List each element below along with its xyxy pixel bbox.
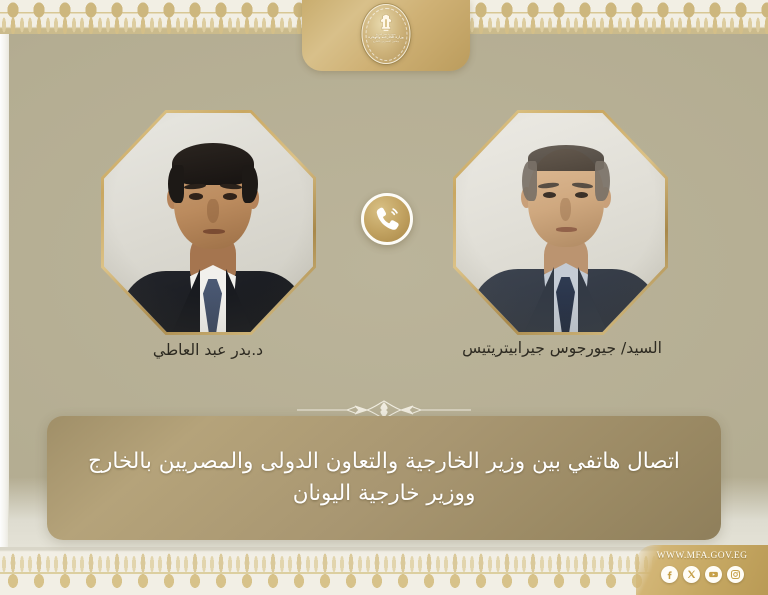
announcement-card: جمهورية مصر العربية وزارة الخارجية والهج…: [0, 0, 768, 595]
emblem-card: جمهورية مصر العربية وزارة الخارجية والهج…: [302, 0, 470, 71]
social-links-row: [661, 566, 744, 583]
portrait-right: [453, 110, 668, 342]
footer-plate: WWW.MFA.GOV.EG: [636, 545, 768, 595]
emblem-line-1: جمهورية مصر العربية: [365, 33, 407, 36]
phone-call-badge: [361, 193, 413, 245]
headline-line-1: اتصال هاتفي بين وزير الخارجية والتعاون ا…: [88, 449, 680, 474]
x-twitter-icon[interactable]: [683, 566, 700, 583]
website-url[interactable]: WWW.MFA.GOV.EG: [657, 551, 748, 561]
phone-call-icon: [372, 204, 402, 234]
instagram-icon[interactable]: [727, 566, 744, 583]
portrait-left: [101, 110, 316, 342]
headline-text: اتصال هاتفي بين وزير الخارجية والتعاون ا…: [88, 446, 680, 510]
ministry-emblem: جمهورية مصر العربية وزارة الخارجية والهج…: [362, 4, 411, 64]
facebook-icon[interactable]: [661, 566, 678, 583]
caption-left: د.بدر عبد العاطي: [78, 341, 338, 359]
emblem-text-block: جمهورية مصر العربية وزارة الخارجية والهج…: [365, 33, 407, 43]
caption-right: السيد/ جيورجوس جيرابيتريتيس: [432, 339, 692, 357]
headline-line-2: ووزير خارجية اليونان: [88, 478, 680, 510]
octagon-inner-left: [104, 113, 313, 332]
photo-badr-abdelatty: [104, 113, 313, 332]
emblem-line-3: وشئون المصريين بالخارج: [365, 40, 407, 43]
egypt-eagle-emblem-icon: [378, 13, 395, 32]
youtube-icon[interactable]: [705, 566, 722, 583]
headline-banner: اتصال هاتفي بين وزير الخارجية والتعاون ا…: [47, 416, 721, 540]
